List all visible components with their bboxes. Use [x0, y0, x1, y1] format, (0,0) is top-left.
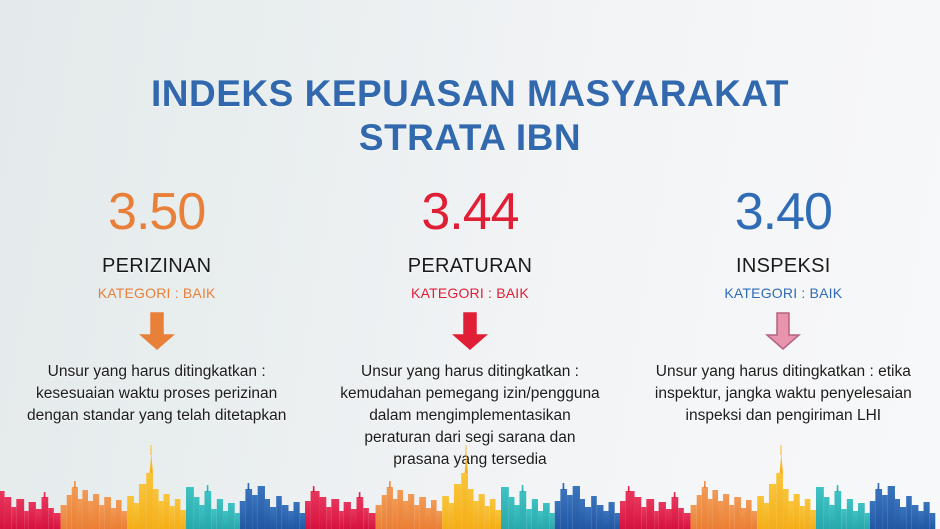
title-line-1: INDEKS KEPUASAN MASYARAKAT	[0, 72, 940, 116]
arrow-container	[313, 311, 626, 353]
arrow-container	[627, 311, 940, 353]
page-title: INDEKS KEPUASAN MASYARAKAT STRATA IBN	[0, 72, 940, 159]
down-arrow-icon	[764, 311, 802, 351]
score-value: 3.44	[313, 186, 626, 238]
category-rating: KATEGORI : BAIK	[627, 285, 940, 301]
down-arrow-icon	[138, 311, 176, 351]
improvement-note: Unsur yang harus ditingkatkan : kesesuai…	[0, 361, 313, 427]
slide-canvas: INDEKS KEPUASAN MASYARAKAT STRATA IBN 3.…	[0, 0, 940, 529]
improvement-note: Unsur yang harus ditingkatkan : etika in…	[627, 361, 940, 427]
down-arrow-icon	[451, 311, 489, 351]
metric-label: PERATURAN	[313, 255, 626, 278]
title-line-2: STRATA IBN	[0, 116, 940, 160]
category-rating: KATEGORI : BAIK	[313, 285, 626, 301]
metric-column-perizinan: 3.50 PERIZINAN KATEGORI : BAIK Unsur yan…	[0, 186, 313, 427]
score-value: 3.50	[0, 186, 313, 238]
improvement-note: Unsur yang harus ditingkatkan : kemudaha…	[313, 361, 626, 471]
metric-label: PERIZINAN	[0, 255, 313, 278]
score-value: 3.40	[627, 186, 940, 238]
metric-column-peraturan: 3.44 PERATURAN KATEGORI : BAIK Unsur yan…	[313, 186, 626, 471]
arrow-container	[0, 311, 313, 353]
metric-columns: 3.50 PERIZINAN KATEGORI : BAIK Unsur yan…	[0, 186, 940, 471]
metric-label: INSPEKSI	[627, 255, 940, 278]
metric-column-inspeksi: 3.40 INSPEKSI KATEGORI : BAIK Unsur yang…	[627, 186, 940, 427]
category-rating: KATEGORI : BAIK	[0, 285, 313, 301]
